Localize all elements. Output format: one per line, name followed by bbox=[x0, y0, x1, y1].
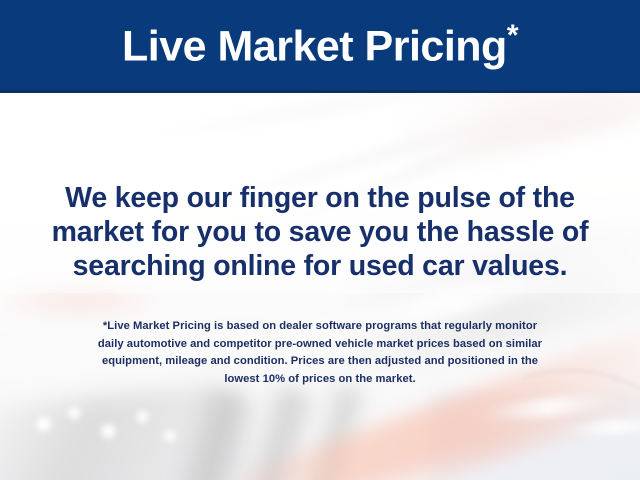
headline-line-1: We keep our finger on the pulse of the bbox=[22, 181, 618, 215]
page-title-asterisk: * bbox=[507, 19, 518, 52]
disclaimer-line-4: lowest 10% of prices on the market. bbox=[30, 371, 610, 389]
headline-line-2: market for you to save you the hassle of bbox=[22, 215, 618, 249]
page-title: Live Market Pricing* bbox=[122, 21, 518, 68]
disclaimer-line-1: *Live Market Pricing is based on dealer … bbox=[30, 318, 610, 336]
disclaimer-line-3: equipment, mileage and condition. Prices… bbox=[30, 353, 610, 371]
headline-line-3: searching online for used car values. bbox=[22, 249, 618, 283]
disclaimer-text: *Live Market Pricing is based on dealer … bbox=[30, 318, 610, 388]
content-area: We keep our finger on the pulse of the m… bbox=[0, 93, 640, 480]
header-bar: Live Market Pricing* bbox=[0, 0, 640, 93]
headline-statement: We keep our finger on the pulse of the m… bbox=[22, 181, 618, 283]
disclaimer-line-2: daily automotive and competitor pre-owne… bbox=[30, 336, 610, 354]
live-market-pricing-banner: Live Market Pricing* We keep our finger … bbox=[0, 0, 640, 480]
page-title-text: Live Market Pricing bbox=[122, 23, 507, 71]
